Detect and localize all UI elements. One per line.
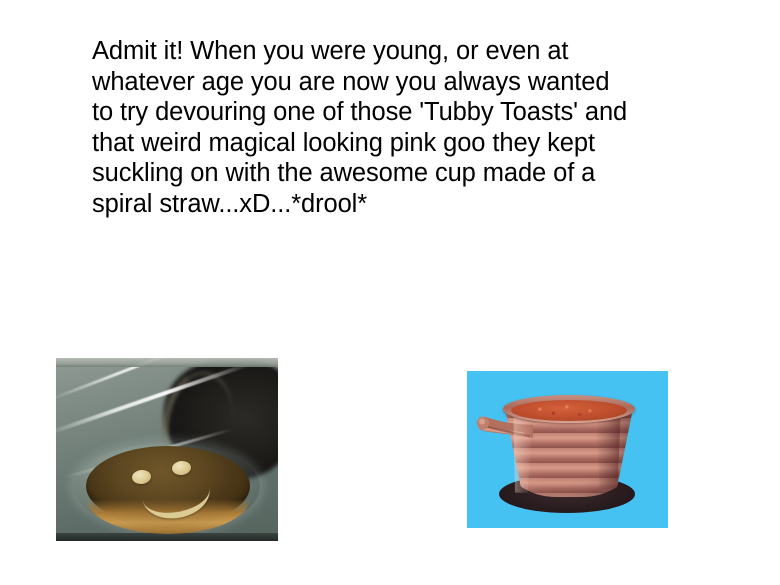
caption-text-block: Admit it! When you were young, or even a… xyxy=(92,36,717,219)
tubby-custard-scene xyxy=(467,371,668,528)
caption-line-2: whatever age you are now you always want… xyxy=(92,67,717,98)
tubby-custard-photo xyxy=(467,371,668,528)
tubby-toast-photo xyxy=(56,358,278,541)
caption-line-4: that weird magical looking pink goo they… xyxy=(92,128,717,159)
caption-line-1: Admit it! When you were young, or even a… xyxy=(92,36,717,67)
tubby-toast-scene xyxy=(56,358,278,541)
photo-bottom-edge-band xyxy=(56,533,278,541)
caption-line-5: suckling on with the awesome cup made of… xyxy=(92,158,717,189)
caption-line-6: spiral straw...xD...*drool* xyxy=(92,189,717,220)
photo-top-edge-band xyxy=(56,358,278,367)
custard-texture xyxy=(517,402,621,418)
caption-line-3: to try devouring one of those 'Tubby Toa… xyxy=(92,97,717,128)
